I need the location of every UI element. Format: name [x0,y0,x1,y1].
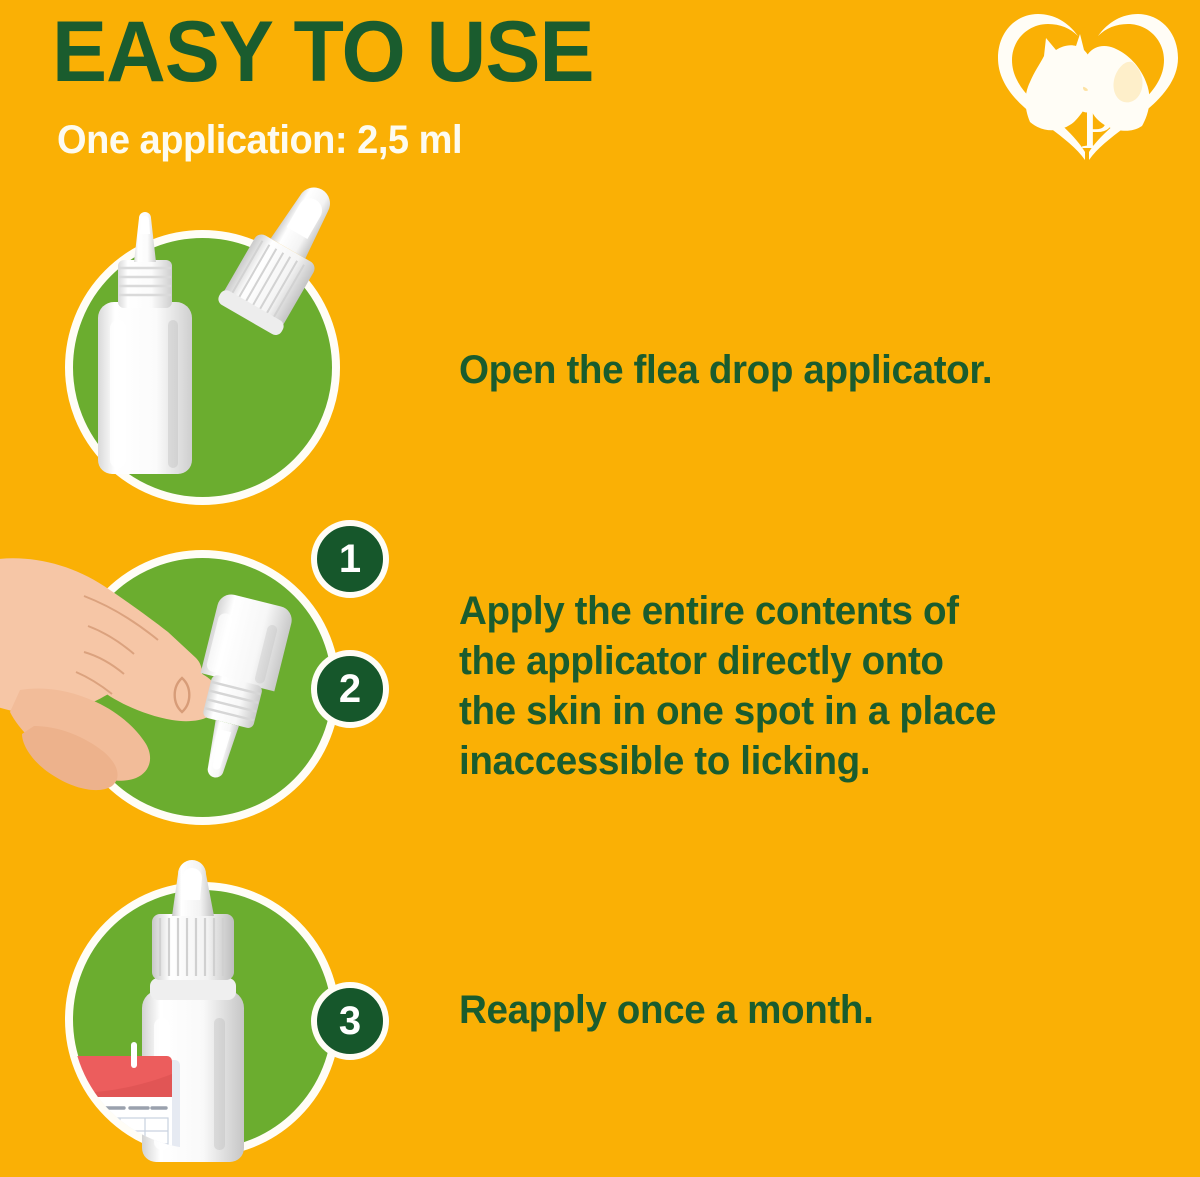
step-3-text: Reapply once a month. [459,985,1200,1035]
step-1-row: 1 Open the flea drop applicator. [0,190,1200,500]
step-1-illustration: 1 [0,190,420,500]
step-3-illustration: 3 [0,860,420,1177]
circled-date-marker [95,1127,129,1155]
page-subtitle: One application: 2,5 ml [57,116,462,164]
step-2-badge: 2 [311,650,389,728]
step-1-text: Open the flea drop applicator. [459,345,1200,395]
infographic-page: EASY TO USE One application: 2,5 ml B [0,0,1200,1177]
step-3-row: 3 Reapply once a month. [0,860,1200,1177]
page-title: EASY TO USE [52,6,594,98]
step-3-badge: 3 [311,982,389,1060]
bp-pet-heart-logo: B P [982,2,1192,172]
logo-letter-p: P [1080,94,1114,162]
step-2-row: 2 Apply the entire contents of the appli… [0,540,1200,850]
step-1-badge: 1 [311,520,389,598]
step-2-text: Apply the entire contents of the applica… [459,586,1200,786]
open-dropper-bottle-icon [0,190,420,500]
